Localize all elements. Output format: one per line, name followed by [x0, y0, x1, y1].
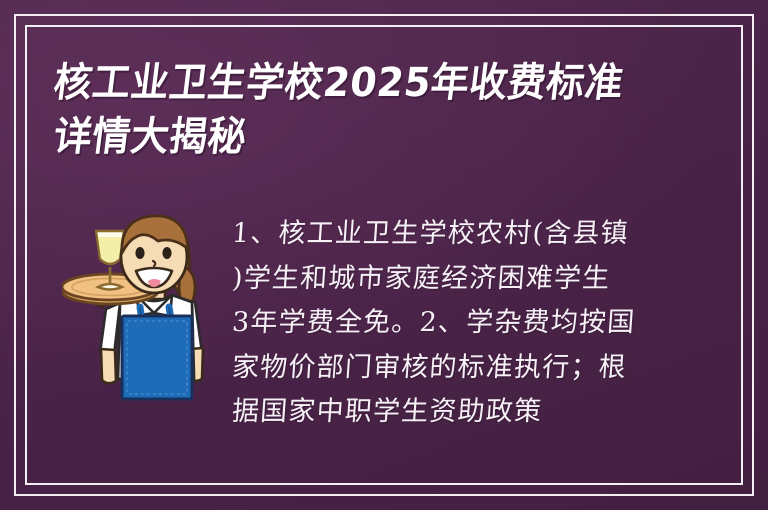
article-cover-card: 核工业卫生学校2025年收费标准 详情大揭秘 [0, 0, 768, 510]
head [121, 216, 188, 293]
headline-line-2: 详情大揭秘 [51, 110, 675, 164]
waitress-illustration [62, 203, 234, 443]
body-line-4: 家物价部门审核的标准执行；根 [230, 346, 645, 391]
body-text: 1、核工业卫生学校农村(含县镇 )学生和城市家庭经济困难学生 3年学费全免。2、… [232, 212, 644, 435]
waitress-svg [62, 203, 234, 443]
page-title: 核工业卫生学校2025年收费标准 详情大揭秘 [54, 56, 704, 164]
glass-base [98, 284, 122, 290]
body-line-1: 1、核工业卫生学校农村(含县镇 [230, 212, 645, 257]
right-eye [162, 247, 171, 259]
body-line-5: 据国家中职学生资助政策 [230, 390, 645, 435]
body-line-3: 3年学费全免。2、学杂费均按国 [230, 301, 645, 346]
left-eye [135, 247, 144, 259]
headline-line-1: 核工业卫生学校2025年收费标准 [51, 56, 675, 110]
body-line-2: )学生和城市家庭经济困难学生 [230, 257, 645, 302]
apron-panel [122, 316, 192, 399]
